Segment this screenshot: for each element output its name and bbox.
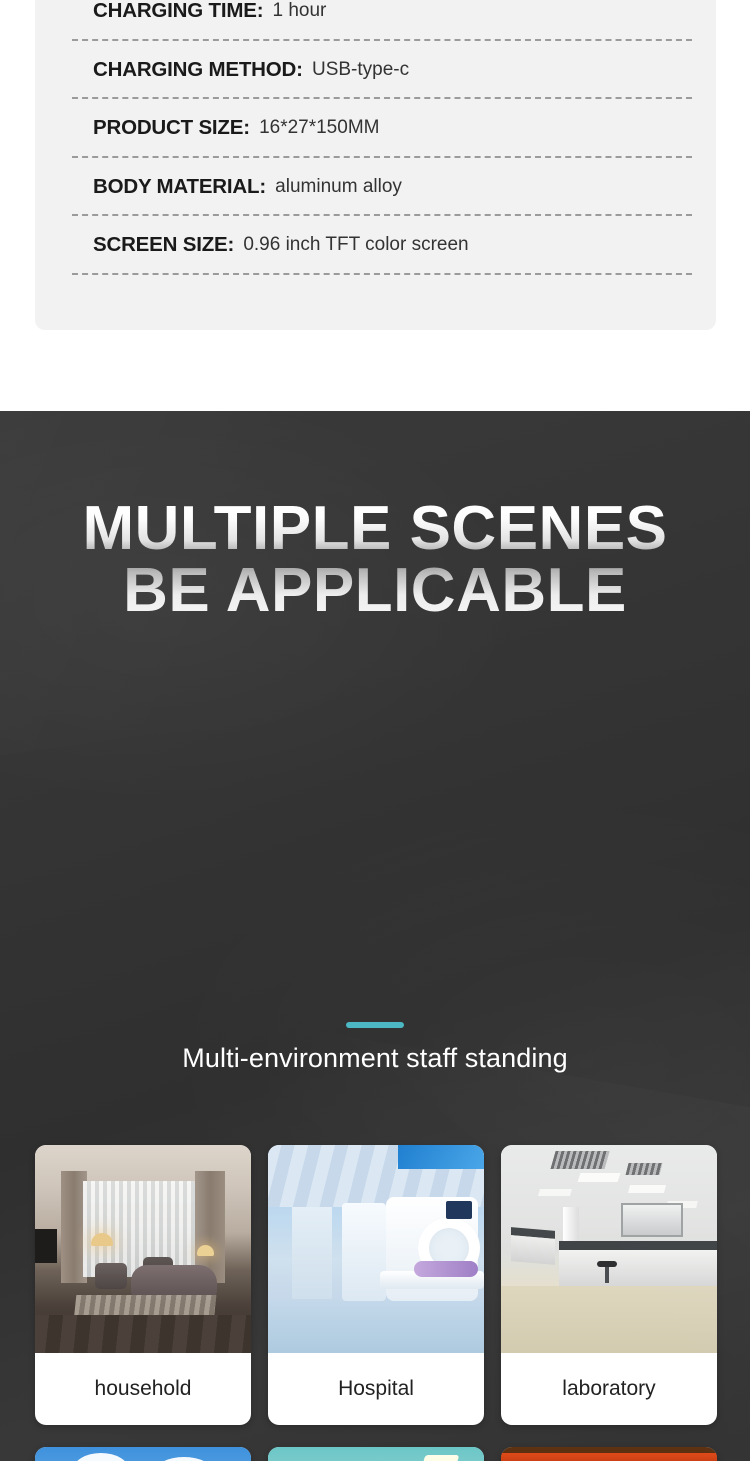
accent-divider <box>346 1022 404 1028</box>
scene-card-metallurgy[interactable]: metallurgy <box>501 1447 717 1461</box>
spec-value: 16*27*150MM <box>259 117 379 139</box>
sofa <box>131 1265 217 1299</box>
side-bench-body <box>511 1235 555 1265</box>
nuclear-cooling-towers-photo <box>35 1447 251 1461</box>
scene-card-nuclear-power-plant[interactable]: nuclear power plant <box>35 1447 251 1461</box>
ceiling-vent <box>550 1151 609 1169</box>
table-lamp <box>197 1245 214 1256</box>
specifications-list: CHARGING TIME : 1 hour CHARGING METHOD :… <box>35 0 716 275</box>
spec-row-body-material: BODY MATERIAL : aluminum alloy <box>35 158 716 217</box>
hospital-floor <box>268 1301 484 1353</box>
spec-colon: : <box>228 233 235 257</box>
spec-colon: : <box>257 0 264 23</box>
spec-row-charging-method: CHARGING METHOD : USB-type-c <box>35 41 716 100</box>
spec-label: CHARGING TIME <box>93 0 257 23</box>
scene-card-label: laboratory <box>501 1353 717 1425</box>
room-door <box>292 1207 332 1299</box>
specifications-card: CHARGING TIME : 1 hour CHARGING METHOD :… <box>35 0 716 330</box>
armchair-front <box>95 1263 127 1289</box>
wood-floor <box>35 1315 251 1353</box>
spec-label: BODY MATERIAL <box>93 175 259 199</box>
lab-bench-top <box>559 1241 717 1250</box>
ceiling-light <box>578 1173 621 1182</box>
overhead-crane <box>501 1453 717 1461</box>
spec-value: aluminum alloy <box>275 176 402 198</box>
scene-card-hospital[interactable]: Hospital <box>268 1145 484 1425</box>
ceiling-vent-secondary <box>626 1163 663 1175</box>
fume-hood <box>621 1203 683 1237</box>
product-specifications-section: CHARGING TIME : 1 hour CHARGING METHOD :… <box>0 0 750 411</box>
scene-card-laboratory[interactable]: laboratory <box>501 1145 717 1425</box>
spec-value: USB-type-c <box>312 59 409 81</box>
spec-colon: : <box>296 58 303 82</box>
hospital-ct-scanner-photo <box>268 1145 484 1353</box>
spec-row-screen-size: SCREEN SIZE : 0.96 inch TFT color screen <box>35 216 716 275</box>
ceiling-light <box>538 1189 572 1196</box>
spec-value: 0.96 inch TFT color screen <box>243 234 468 256</box>
lab-stool-leg <box>605 1267 609 1283</box>
section-subtitle: Multi-environment staff standing <box>0 1043 750 1074</box>
spec-label: PRODUCT SIZE <box>93 116 243 140</box>
blue-skylight <box>398 1145 484 1169</box>
scene-card-household[interactable]: household <box>35 1145 251 1425</box>
spec-label: SCREEN SIZE <box>93 233 228 257</box>
headline-line-1: MULTIPLE SCENES <box>0 498 750 560</box>
spec-colon: : <box>259 175 266 199</box>
scene-card-label: household <box>35 1353 251 1425</box>
spec-colon: : <box>243 116 250 140</box>
living-room-photo <box>35 1145 251 1353</box>
scene-card-label: Hospital <box>268 1353 484 1425</box>
spec-row-charging-time: CHARGING TIME : 1 hour <box>35 0 716 41</box>
lab-bench-cabinets <box>559 1250 717 1286</box>
control-panel <box>446 1201 472 1219</box>
spec-value: 1 hour <box>273 0 327 22</box>
lab-floor <box>501 1286 717 1353</box>
spec-label: CHARGING METHOD <box>93 58 296 82</box>
molten-steel-ladles-photo <box>501 1447 717 1461</box>
cleanroom-workers-photo <box>268 1447 484 1461</box>
fluorescent-light <box>423 1455 460 1461</box>
spec-row-product-size: PRODUCT SIZE : 16*27*150MM <box>35 99 716 158</box>
headline-line-2: BE APPLICABLE <box>0 560 750 622</box>
section-headline: MULTIPLE SCENES BE APPLICABLE <box>0 498 750 622</box>
television <box>35 1229 57 1263</box>
ceiling-light <box>628 1185 666 1193</box>
scene-card-processing-enterprises[interactable]: Processing enterprises <box>268 1447 484 1461</box>
scene-card-grid: household Hospital <box>35 1145 718 1461</box>
spec-divider <box>72 273 692 275</box>
scene-card-row-1: household Hospital <box>35 1145 718 1425</box>
patient <box>414 1261 478 1277</box>
scene-card-row-2: nuclear power plant <box>35 1447 718 1461</box>
application-scenes-section: MULTIPLE SCENES BE APPLICABLE Multi-envi… <box>0 411 750 1461</box>
cloud <box>73 1453 129 1461</box>
laboratory-benches-photo <box>501 1145 717 1353</box>
cloud <box>155 1457 213 1461</box>
